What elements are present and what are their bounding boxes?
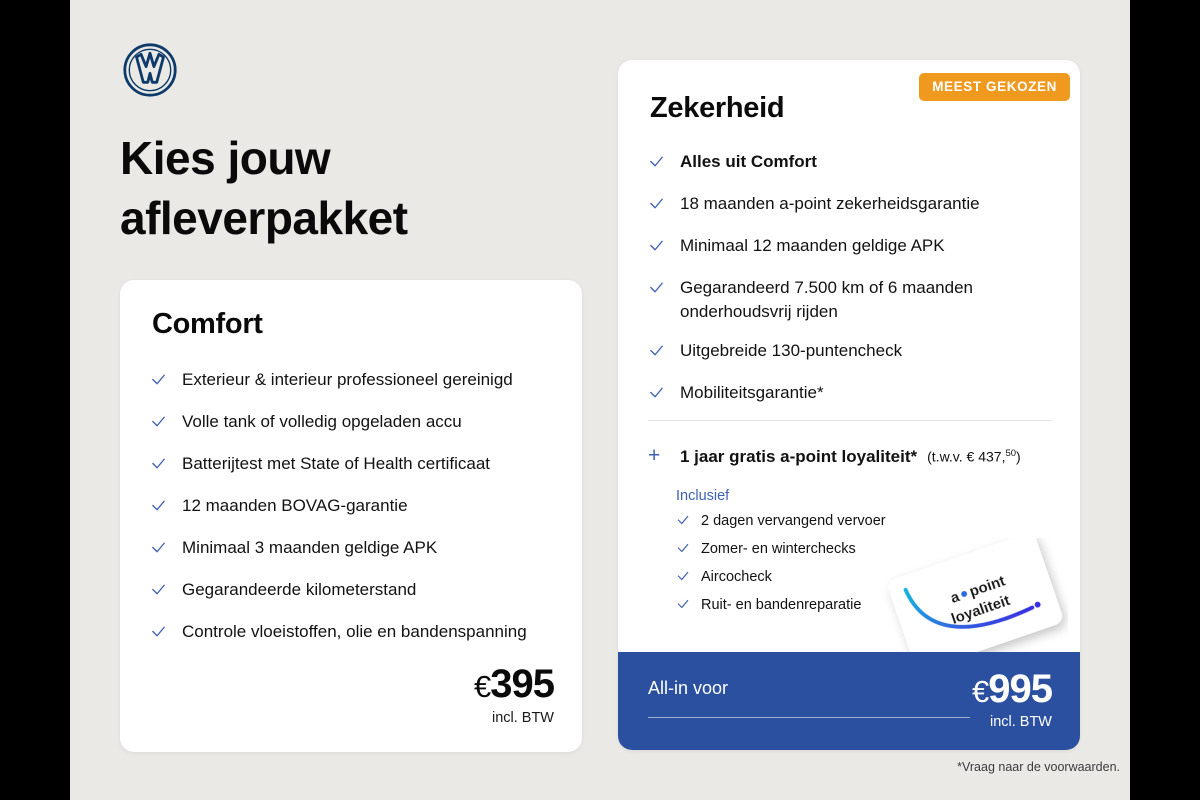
feature-text: Minimaal 3 maanden geldige APK xyxy=(182,536,437,560)
feature-item: Mobiliteitsgarantie* xyxy=(648,381,1060,408)
allin-label: All-in voor xyxy=(648,678,728,699)
feature-item: Volle tank of volledig opgeladen accu xyxy=(150,410,560,437)
package-title-comfort: Comfort xyxy=(152,308,263,341)
feature-text: Mobiliteitsgarantie* xyxy=(680,381,824,405)
status-badge-meest-gekozen: MEEST GEKOZEN xyxy=(919,73,1070,101)
list-item: Ruit- en bandenreparatie xyxy=(676,596,1006,617)
list-item-text: Ruit- en bandenreparatie xyxy=(701,596,861,615)
feature-item: Controle vloeistoffen, olie en bandenspa… xyxy=(150,620,560,647)
price-value: 995 xyxy=(988,667,1052,711)
list-item-text: Zomer- en winterchecks xyxy=(701,540,856,559)
feature-text: 12 maanden BOVAG-garantie xyxy=(182,494,408,518)
bonus-value-suffix: ) xyxy=(1016,449,1021,465)
check-icon xyxy=(676,541,694,561)
check-icon xyxy=(150,371,174,395)
check-icon xyxy=(150,623,174,647)
bonus-row: + 1 jaar gratis a-point loyaliteit* (t.w… xyxy=(648,446,1062,467)
bonus-value-cents: 50 xyxy=(1005,448,1016,459)
screenshot-stage: Kies jouw afleverpakket Comfort Exterieu… xyxy=(0,0,1200,800)
list-item: 2 dagen vervangend vervoer xyxy=(676,512,1006,533)
volkswagen-logo xyxy=(122,42,178,98)
bonus-value-prefix: (t.w.v. € 437, xyxy=(927,449,1005,465)
feature-text: 18 maanden a-point zekerheidsgarantie xyxy=(680,192,980,216)
price-amount: €395 xyxy=(474,663,554,708)
feature-item: 18 maanden a-point zekerheidsgarantie xyxy=(648,192,1060,219)
footnote: *Vraag naar de voorwaarden. xyxy=(957,760,1120,774)
feature-list-zekerheid: Alles uit Comfort 18 maanden a-point zek… xyxy=(648,150,1060,423)
check-icon xyxy=(150,413,174,437)
price-block-comfort: €395 incl. BTW xyxy=(474,663,554,726)
inclusief-list: 2 dagen vervangend vervoer Zomer- en win… xyxy=(676,512,1006,624)
package-card-comfort[interactable]: Comfort Exterieur & interieur profession… xyxy=(120,280,582,752)
feature-item: Minimaal 12 maanden geldige APK xyxy=(648,234,1060,261)
feature-item: Uitgebreide 130-puntencheck xyxy=(648,339,1060,366)
bonus-label: 1 jaar gratis a-point loyaliteit* xyxy=(680,447,917,467)
inclusief-title: Inclusief xyxy=(676,488,729,504)
allin-footer: All-in voor €995 incl. BTW xyxy=(618,652,1080,750)
feature-item: 12 maanden BOVAG-garantie xyxy=(150,494,560,521)
check-icon xyxy=(150,581,174,605)
feature-item: Batterijtest met State of Health certifi… xyxy=(150,452,560,479)
plus-icon: + xyxy=(648,446,672,466)
check-icon xyxy=(648,384,672,408)
feature-text: Exterieur & interieur professioneel gere… xyxy=(182,368,513,392)
check-icon xyxy=(648,237,672,261)
package-title-zekerheid: Zekerheid xyxy=(650,92,784,125)
feature-item: Gegarandeerde kilometerstand xyxy=(150,578,560,605)
list-item-text: 2 dagen vervangend vervoer xyxy=(701,512,886,531)
feature-text: Volle tank of volledig opgeladen accu xyxy=(182,410,462,434)
feature-text: Gegarandeerde kilometerstand xyxy=(182,578,416,602)
list-item: Aircocheck xyxy=(676,568,1006,589)
feature-text: Batterijtest met State of Health certifi… xyxy=(182,452,490,476)
check-icon xyxy=(150,497,174,521)
feature-item: Minimaal 3 maanden geldige APK xyxy=(150,536,560,563)
check-icon xyxy=(676,569,694,589)
check-icon xyxy=(648,342,672,366)
check-icon xyxy=(676,513,694,533)
feature-text: Alles uit Comfort xyxy=(680,150,817,174)
page-title: Kies jouw afleverpakket xyxy=(120,128,590,248)
check-icon xyxy=(676,597,694,617)
check-icon xyxy=(150,539,174,563)
feature-list-comfort: Exterieur & interieur professioneel gere… xyxy=(150,368,560,662)
price-block-zekerheid: €995 incl. BTW xyxy=(972,668,1052,730)
price-value: 395 xyxy=(490,662,554,706)
bonus-value: (t.w.v. € 437,50) xyxy=(927,448,1021,465)
price-vat-note: incl. BTW xyxy=(972,714,1052,730)
feature-item: Exterieur & interieur professioneel gere… xyxy=(150,368,560,395)
feature-text: Minimaal 12 maanden geldige APK xyxy=(680,234,945,258)
check-icon xyxy=(648,195,672,219)
package-card-zekerheid[interactable]: Zekerheid MEEST GEKOZEN Alles uit Comfor… xyxy=(618,60,1080,750)
price-vat-note: incl. BTW xyxy=(474,710,554,726)
feature-text: Controle vloeistoffen, olie en bandenspa… xyxy=(182,620,527,644)
section-divider xyxy=(648,420,1052,421)
currency-symbol: € xyxy=(972,674,988,709)
list-item-text: Aircocheck xyxy=(701,568,772,587)
feature-item: Alles uit Comfort xyxy=(648,150,1060,177)
check-icon xyxy=(648,279,672,303)
feature-item: Gegarandeerd 7.500 km of 6 maanden onder… xyxy=(648,276,1060,324)
allin-divider xyxy=(648,717,970,718)
feature-text: Gegarandeerd 7.500 km of 6 maanden onder… xyxy=(680,276,1060,324)
check-icon xyxy=(150,455,174,479)
list-item: Zomer- en winterchecks xyxy=(676,540,1006,561)
promo-canvas: Kies jouw afleverpakket Comfort Exterieu… xyxy=(70,0,1130,800)
check-icon xyxy=(648,153,672,177)
price-amount: €995 xyxy=(972,668,1052,713)
currency-symbol: € xyxy=(474,669,490,704)
feature-text: Uitgebreide 130-puntencheck xyxy=(680,339,902,363)
